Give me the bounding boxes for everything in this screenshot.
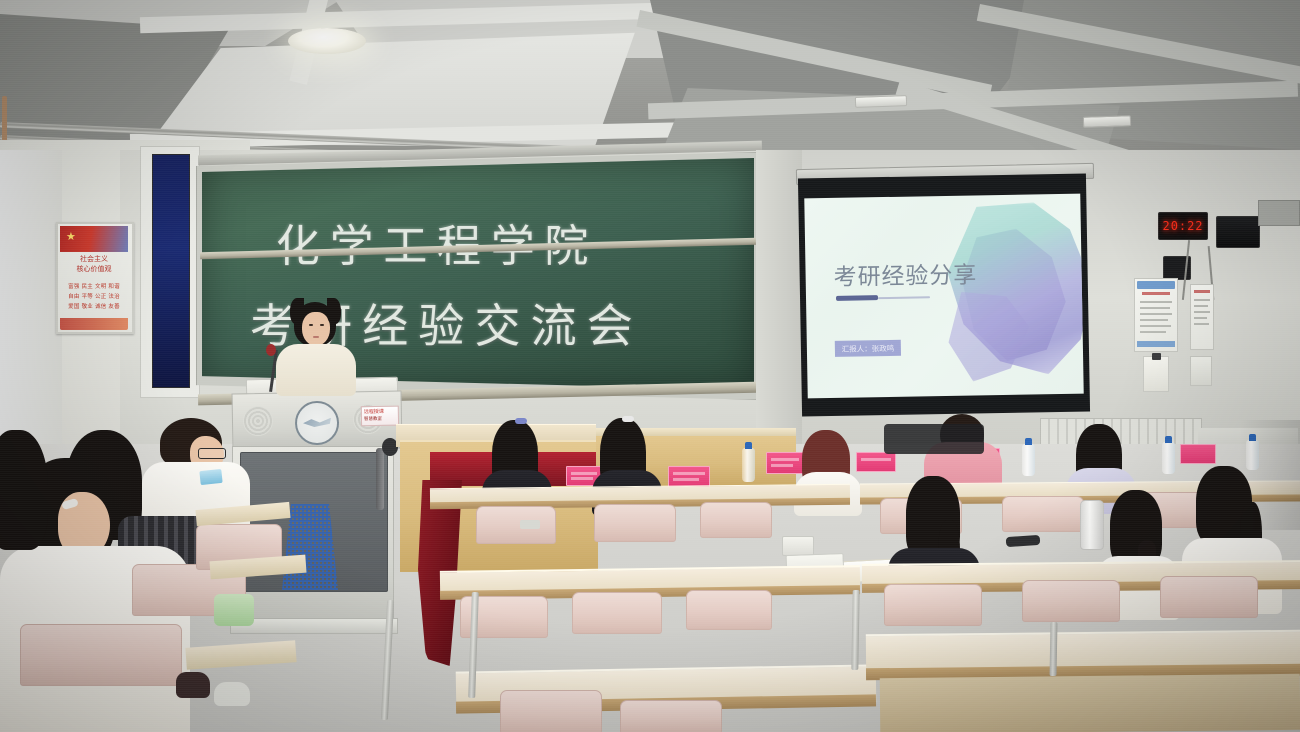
seat-r3-3[interactable] xyxy=(686,590,772,630)
seat-front-left-2[interactable] xyxy=(20,624,182,686)
seat-r3-6[interactable] xyxy=(1160,576,1258,618)
desk-leg-3 xyxy=(851,590,859,670)
notice-board-side xyxy=(1190,284,1214,350)
slide-subtitle: 汇报人：张政鸣 xyxy=(835,340,901,357)
poster-heading-2: 核心价值观 xyxy=(60,265,128,273)
water-bottle-3 xyxy=(1162,442,1175,474)
window-pane-left xyxy=(152,154,190,388)
shoe-2 xyxy=(214,682,250,706)
ceiling-light-3 xyxy=(1083,115,1131,128)
podium-sticker: 远程授课 智慧教室 xyxy=(361,406,399,427)
desk-leg-4 xyxy=(1050,622,1058,676)
poster-values-row-3: 爱国 敬业 诚信 友善 xyxy=(60,302,128,310)
seat-r2-2[interactable] xyxy=(594,504,676,542)
seat-r2-1[interactable] xyxy=(476,506,556,544)
seat-r2-3[interactable] xyxy=(700,502,772,538)
water-bottle-1 xyxy=(742,448,755,482)
shoe-1 xyxy=(176,672,210,698)
podium-sticker-line-1: 远程授课 xyxy=(364,408,384,415)
thermos-bottle xyxy=(1080,500,1104,550)
projected-slide: 考研经验分享 汇报人：张政鸣 xyxy=(804,194,1083,399)
name-placard-4 xyxy=(856,452,896,472)
wall-speaker xyxy=(1216,216,1260,248)
presenter-eye-left xyxy=(309,324,313,326)
microphone-head xyxy=(266,344,276,356)
seat-r3-5[interactable] xyxy=(1022,580,1120,622)
notebook-left xyxy=(199,469,222,485)
seat-r3-2[interactable] xyxy=(572,592,662,634)
podium-speaker-left xyxy=(243,406,274,437)
wall-plate xyxy=(1190,356,1212,386)
power-socket-box[interactable] xyxy=(782,536,814,556)
presenter-face xyxy=(302,312,330,346)
led-clock: 20:22 xyxy=(1158,212,1208,240)
seat-r2-5[interactable] xyxy=(1002,496,1084,532)
student-back-2-hairtie xyxy=(622,416,634,422)
shadow-right xyxy=(1240,420,1300,530)
poster-values-row-2: 自由 平等 公正 法治 xyxy=(60,292,128,300)
slide-rule-light xyxy=(878,296,930,299)
poster-values-row-1: 富强 民主 文明 和谐 xyxy=(60,282,128,290)
desk-row4-front-right xyxy=(880,674,1300,732)
podium-cable-arm xyxy=(376,448,384,510)
bag-on-desk xyxy=(884,424,984,454)
podium-base xyxy=(230,618,398,634)
presenter-mouth xyxy=(313,336,319,338)
wall-between-board-screen xyxy=(756,150,802,450)
podium-upper: 远程授课 智慧教室 xyxy=(232,391,403,452)
name-placard-7 xyxy=(1180,444,1216,464)
seat-r3-4[interactable] xyxy=(884,584,982,626)
water-bottle-2 xyxy=(1022,444,1035,476)
led-clock-time: 20:22 xyxy=(1163,219,1204,233)
name-placard-3 xyxy=(766,452,804,474)
slide-rule-accent xyxy=(836,295,878,301)
poster-heading-1: 社会主义 xyxy=(60,255,128,263)
wall-box-right xyxy=(1258,200,1300,226)
lecture-hall-photo: ★ 社会主义 核心价值观 富强 民主 文明 和谐 自由 平等 公正 法治 爱国 … xyxy=(0,0,1300,732)
clipboard-clip xyxy=(1152,353,1161,360)
core-values-poster: ★ 社会主义 核心价值观 富强 民主 文明 和谐 自由 平等 公正 法治 爱国 … xyxy=(56,222,134,334)
presenter-torso xyxy=(276,344,356,396)
bag-left xyxy=(214,594,254,626)
seat-r4-2[interactable] xyxy=(620,700,722,732)
slide-title: 考研经验分享 xyxy=(833,255,977,291)
podium-sticker-line-2: 智慧教室 xyxy=(364,416,382,422)
seat-r4-1[interactable] xyxy=(500,690,602,732)
presenter-hair-side-left xyxy=(290,298,304,324)
presenter-hair-side-right xyxy=(327,298,341,324)
student-left-edge-hair xyxy=(0,430,48,550)
ceiling-light-1 xyxy=(288,28,366,54)
glasses-icon xyxy=(198,448,226,459)
clipboard xyxy=(1143,356,1169,392)
ceiling-light-2 xyxy=(855,95,907,108)
presenter-eye-right xyxy=(320,324,324,326)
student-back-1-hairclip xyxy=(515,418,527,424)
phone-on-desk xyxy=(520,520,540,529)
notice-board xyxy=(1134,278,1178,352)
podium-emblem xyxy=(295,401,340,446)
blackboard-line-1: 化学工程学院 xyxy=(276,210,598,274)
